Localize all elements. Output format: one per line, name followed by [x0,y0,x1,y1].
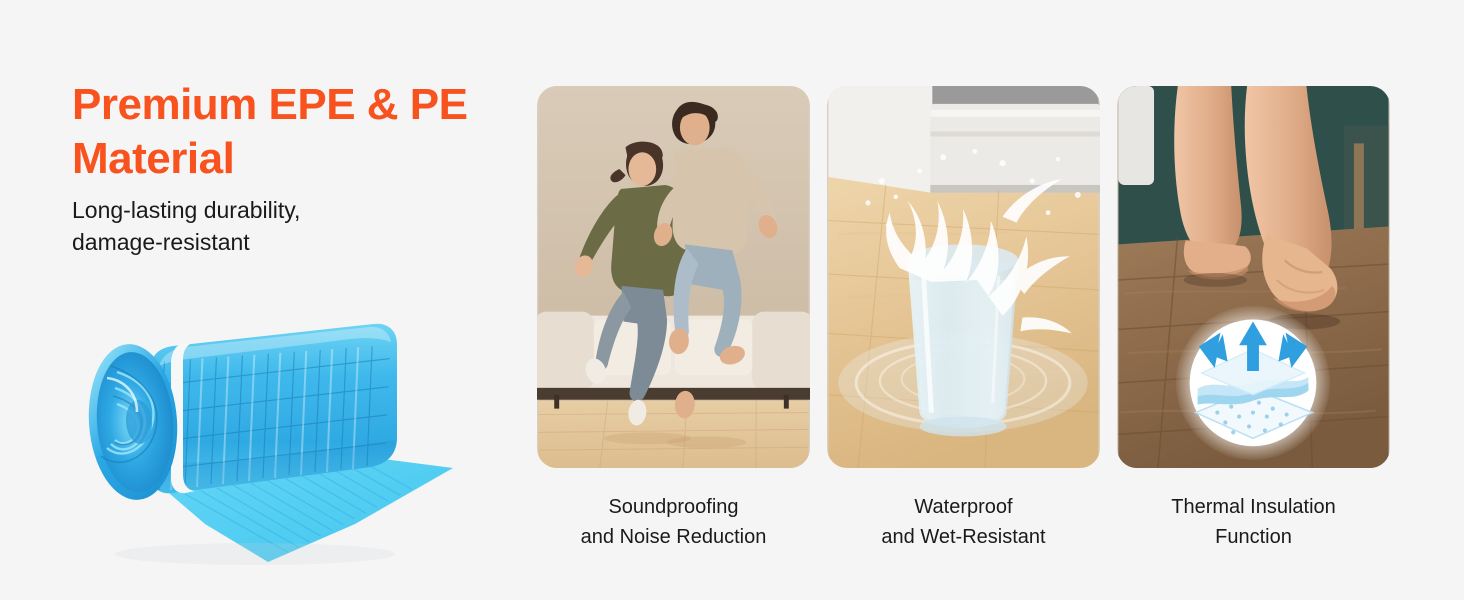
feature-panels: Soundproofing and Noise Reduction [537,86,1394,552]
feature-caption: Soundproofing and Noise Reduction [537,492,810,552]
copy-block: Premium EPE & PE Material Long-lasting d… [72,78,502,258]
sofa [537,312,810,409]
thermal-insulation-photo [1117,86,1390,468]
feature-caption: Waterproof and Wet-Resistant [827,492,1100,552]
waterproof-photo [827,86,1100,468]
foam-roll-body [151,324,397,494]
feature-card-soundproofing: Soundproofing and Noise Reduction [537,86,810,552]
feature-caption: Thermal Insulation Function [1117,492,1390,552]
thermal-insulation-badge [1176,306,1330,460]
page-title: Premium EPE & PE Material [72,78,502,186]
page-subtitle: Long-lasting durability, damage-resistan… [72,194,502,258]
feature-card-waterproof: Waterproof and Wet-Resistant [827,86,1100,552]
feature-card-thermal: Thermal Insulation Function [1117,86,1390,552]
product-feature-banner: Premium EPE & PE Material Long-lasting d… [0,0,1464,600]
product-roll-image [55,262,505,572]
soundproofing-photo [537,86,810,468]
